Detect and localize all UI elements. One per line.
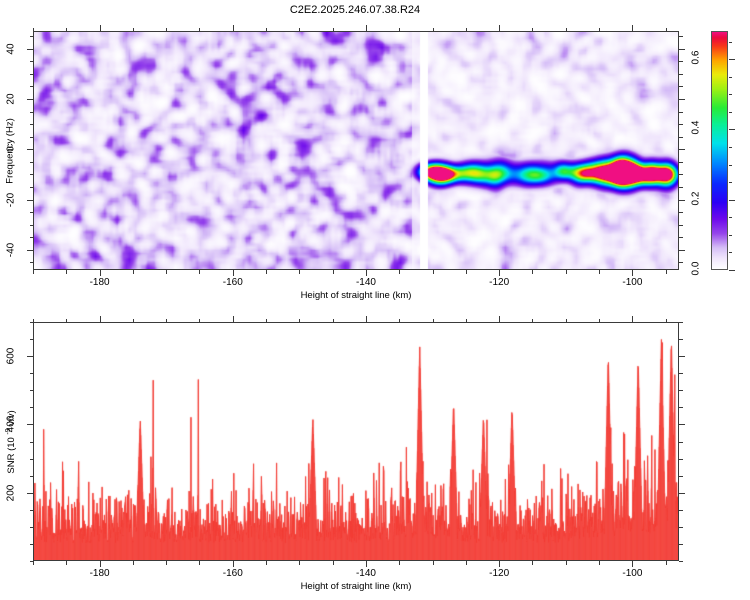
- x-major-tick: [233, 270, 234, 276]
- x-minor-tick: [299, 28, 300, 32]
- x-minor-tick: [199, 28, 200, 32]
- y-minor-tick: [679, 237, 683, 238]
- y-minor-tick: [30, 390, 34, 391]
- x-minor-tick: [532, 270, 533, 274]
- y-minor-tick: [30, 476, 34, 477]
- x-minor-tick: [599, 28, 600, 32]
- figure-title: C2E2.2025.246.07.38.R24: [0, 4, 710, 16]
- y-tick-label: 40: [6, 36, 17, 62]
- y-tick-label: 600: [6, 343, 17, 369]
- x-minor-tick: [66, 28, 67, 32]
- x-minor-tick: [433, 270, 434, 274]
- colorbar-minor-tick: [729, 94, 732, 95]
- x-tick-label: -120: [489, 277, 509, 288]
- x-minor-tick: [466, 28, 467, 32]
- y-minor-tick: [30, 561, 34, 562]
- y-minor-tick: [30, 510, 34, 511]
- x-major-tick: [632, 270, 633, 276]
- colorbar-frame: [711, 31, 728, 270]
- spectrogram-image: [34, 32, 678, 269]
- x-minor-tick: [666, 319, 667, 323]
- colorbar-minor-tick: [729, 165, 732, 166]
- x-major-tick: [366, 561, 367, 567]
- y-minor-tick: [679, 212, 683, 213]
- y-minor-tick: [679, 174, 683, 175]
- y-minor-tick: [30, 36, 34, 37]
- x-major-tick: [499, 561, 500, 567]
- colorbar-minor-tick: [729, 42, 732, 43]
- colorbar-minor-tick: [729, 235, 732, 236]
- colorbar-minor-tick: [729, 217, 732, 218]
- colorbar-major-tick: [729, 270, 735, 271]
- x-minor-tick: [166, 319, 167, 323]
- x-minor-tick: [299, 319, 300, 323]
- y-minor-tick: [679, 407, 683, 408]
- y-minor-tick: [30, 544, 34, 545]
- x-minor-tick: [133, 561, 134, 565]
- x-minor-tick: [199, 319, 200, 323]
- y-minor-tick: [679, 527, 683, 528]
- colorbar-tick-label: 0.0: [691, 256, 702, 282]
- colorbar-minor-tick: [729, 77, 732, 78]
- x-major-tick: [100, 270, 101, 276]
- snr-plot-area[interactable]: [33, 322, 679, 561]
- x-minor-tick: [33, 561, 34, 565]
- x-minor-tick: [433, 28, 434, 32]
- x-major-tick: [100, 316, 101, 322]
- y-major-tick: [679, 493, 685, 494]
- colorbar-tick-label: 0.6: [691, 45, 702, 71]
- y-minor-tick: [30, 187, 34, 188]
- x-minor-tick: [566, 28, 567, 32]
- x-minor-tick: [166, 270, 167, 274]
- y-minor-tick: [679, 373, 683, 374]
- x-minor-tick: [532, 319, 533, 323]
- x-minor-tick: [266, 319, 267, 323]
- y-minor-tick: [679, 112, 683, 113]
- x-minor-tick: [599, 270, 600, 274]
- x-minor-tick: [333, 561, 334, 565]
- x-major-tick: [366, 316, 367, 322]
- x-minor-tick: [166, 28, 167, 32]
- x-minor-tick: [199, 561, 200, 565]
- y-minor-tick: [30, 442, 34, 443]
- y-axis-label: Frequency (Hz): [5, 118, 16, 183]
- y-minor-tick: [30, 237, 34, 238]
- y-minor-tick: [679, 262, 683, 263]
- x-minor-tick: [33, 319, 34, 323]
- y-tick-label: 20: [6, 86, 17, 112]
- x-minor-tick: [333, 270, 334, 274]
- y-minor-tick: [679, 459, 683, 460]
- x-minor-tick: [166, 561, 167, 565]
- y-minor-tick: [679, 339, 683, 340]
- x-axis-label: Height of straight line (km): [301, 290, 412, 301]
- y-minor-tick: [30, 262, 34, 263]
- y-major-tick: [27, 356, 33, 357]
- x-major-tick: [366, 25, 367, 31]
- x-tick-label: -180: [90, 568, 110, 579]
- y-tick-label: -40: [6, 237, 17, 263]
- x-major-tick: [100, 561, 101, 567]
- x-minor-tick: [666, 561, 667, 565]
- y-minor-tick: [30, 124, 34, 125]
- x-minor-tick: [333, 319, 334, 323]
- x-tick-label: -180: [90, 277, 110, 288]
- x-major-tick: [632, 316, 633, 322]
- y-minor-tick: [679, 36, 683, 37]
- y-minor-tick: [30, 74, 34, 75]
- x-minor-tick: [133, 319, 134, 323]
- y-minor-tick: [30, 322, 34, 323]
- figure-canvas: C2E2.2025.246.07.38.R24 -180-160-140-120…: [0, 0, 750, 600]
- y-axis-label: SNR (10 -9 v/v): [5, 410, 17, 473]
- y-minor-tick: [679, 476, 683, 477]
- y-major-tick: [27, 149, 33, 150]
- x-minor-tick: [466, 561, 467, 565]
- y-minor-tick: [679, 162, 683, 163]
- x-minor-tick: [532, 28, 533, 32]
- y-minor-tick: [679, 137, 683, 138]
- x-axis-label: Height of straight line (km): [301, 581, 412, 592]
- y-minor-tick: [30, 407, 34, 408]
- y-major-tick: [27, 250, 33, 251]
- x-minor-tick: [399, 270, 400, 274]
- x-major-tick: [499, 25, 500, 31]
- x-minor-tick: [399, 28, 400, 32]
- y-major-tick: [679, 99, 685, 100]
- y-minor-tick: [679, 390, 683, 391]
- y-minor-tick: [679, 225, 683, 226]
- x-minor-tick: [199, 270, 200, 274]
- snr-line-series: [34, 323, 678, 560]
- y-minor-tick: [30, 225, 34, 226]
- x-tick-label: -160: [223, 568, 243, 579]
- y-major-tick: [27, 424, 33, 425]
- colorbar-gradient: [712, 32, 727, 269]
- y-minor-tick: [679, 74, 683, 75]
- x-minor-tick: [299, 561, 300, 565]
- y-minor-tick: [679, 187, 683, 188]
- colorbar-major-tick: [729, 129, 735, 130]
- y-tick-label: -20: [6, 187, 17, 213]
- x-minor-tick: [66, 561, 67, 565]
- x-minor-tick: [566, 561, 567, 565]
- y-major-tick: [27, 99, 33, 100]
- y-major-tick: [679, 424, 685, 425]
- x-minor-tick: [566, 270, 567, 274]
- y-minor-tick: [679, 544, 683, 545]
- y-major-tick: [679, 200, 685, 201]
- x-major-tick: [366, 270, 367, 276]
- x-minor-tick: [66, 319, 67, 323]
- x-major-tick: [233, 316, 234, 322]
- x-major-tick: [632, 561, 633, 567]
- y-minor-tick: [679, 510, 683, 511]
- y-minor-tick: [30, 137, 34, 138]
- x-tick-label: -120: [489, 568, 509, 579]
- y-minor-tick: [30, 339, 34, 340]
- colorbar-minor-tick: [729, 252, 732, 253]
- x-minor-tick: [466, 270, 467, 274]
- x-minor-tick: [266, 270, 267, 274]
- y-minor-tick: [679, 442, 683, 443]
- x-minor-tick: [133, 28, 134, 32]
- y-major-tick: [27, 200, 33, 201]
- y-minor-tick: [679, 86, 683, 87]
- y-major-tick: [679, 356, 685, 357]
- y-minor-tick: [30, 162, 34, 163]
- x-major-tick: [233, 561, 234, 567]
- y-major-tick: [679, 49, 685, 50]
- x-minor-tick: [399, 319, 400, 323]
- x-minor-tick: [133, 270, 134, 274]
- colorbar-tick-label: 0.2: [691, 185, 702, 211]
- x-minor-tick: [333, 28, 334, 32]
- y-minor-tick: [679, 561, 683, 562]
- x-tick-label: -100: [622, 568, 642, 579]
- x-minor-tick: [666, 270, 667, 274]
- colorbar-major-tick: [729, 59, 735, 60]
- y-minor-tick: [30, 86, 34, 87]
- y-major-tick: [679, 250, 685, 251]
- colorbar-minor-tick: [729, 112, 732, 113]
- y-minor-tick: [30, 61, 34, 62]
- colorbar-minor-tick: [729, 182, 732, 183]
- colorbar-major-tick: [729, 200, 735, 201]
- x-minor-tick: [399, 561, 400, 565]
- x-minor-tick: [666, 28, 667, 32]
- y-minor-tick: [30, 527, 34, 528]
- y-minor-tick: [679, 322, 683, 323]
- y-minor-tick: [30, 459, 34, 460]
- x-minor-tick: [33, 28, 34, 32]
- x-minor-tick: [599, 561, 600, 565]
- x-major-tick: [499, 270, 500, 276]
- x-minor-tick: [266, 28, 267, 32]
- y-major-tick: [27, 49, 33, 50]
- x-minor-tick: [433, 561, 434, 565]
- y-minor-tick: [30, 212, 34, 213]
- x-major-tick: [632, 25, 633, 31]
- y-minor-tick: [679, 61, 683, 62]
- y-minor-tick: [30, 112, 34, 113]
- spectrogram-plot-area[interactable]: [33, 31, 679, 270]
- x-minor-tick: [266, 561, 267, 565]
- x-minor-tick: [599, 319, 600, 323]
- y-major-tick: [27, 493, 33, 494]
- x-minor-tick: [66, 270, 67, 274]
- y-major-tick: [679, 149, 685, 150]
- x-major-tick: [499, 316, 500, 322]
- y-tick-label: 200: [6, 480, 17, 506]
- x-tick-label: -160: [223, 277, 243, 288]
- y-minor-tick: [30, 373, 34, 374]
- x-minor-tick: [466, 319, 467, 323]
- x-minor-tick: [433, 319, 434, 323]
- x-minor-tick: [532, 561, 533, 565]
- x-tick-label: -100: [622, 277, 642, 288]
- x-minor-tick: [299, 270, 300, 274]
- x-tick-label: -140: [356, 277, 376, 288]
- colorbar-tick-label: 0.4: [691, 115, 702, 141]
- y-minor-tick: [679, 124, 683, 125]
- x-minor-tick: [566, 319, 567, 323]
- x-major-tick: [100, 25, 101, 31]
- x-major-tick: [233, 25, 234, 31]
- colorbar-minor-tick: [729, 147, 732, 148]
- x-tick-label: -140: [356, 568, 376, 579]
- x-minor-tick: [33, 270, 34, 274]
- y-minor-tick: [30, 174, 34, 175]
